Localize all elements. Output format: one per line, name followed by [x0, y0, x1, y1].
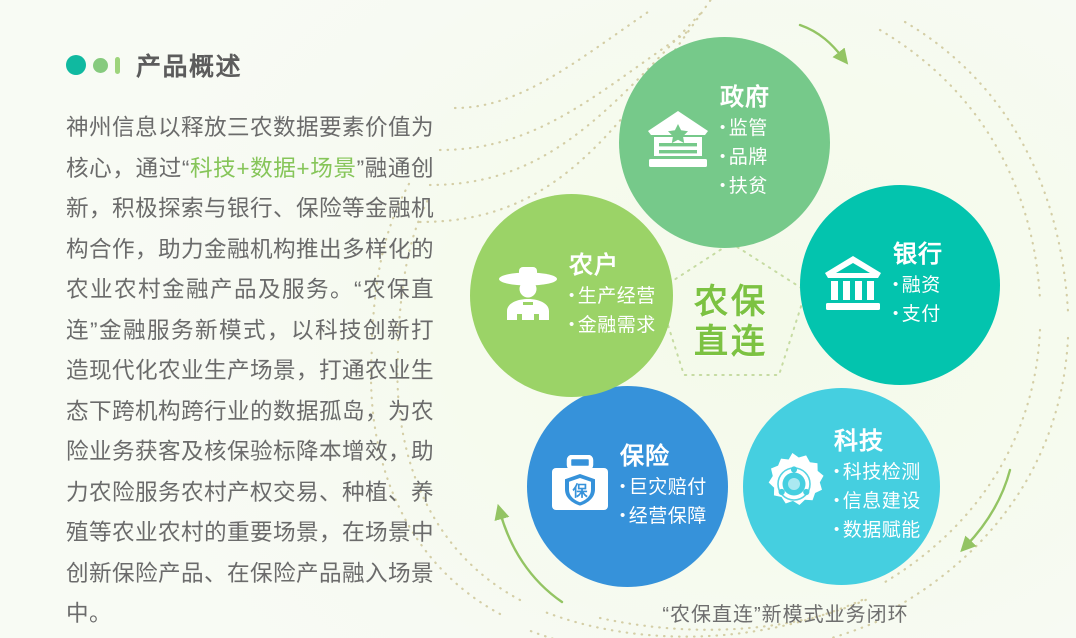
node-technology-item-2: •数据赋能 [834, 517, 921, 546]
node-technology-text: 科技 •科技检测 •信息建设 •数据赋能 [834, 427, 921, 546]
overview-section: 产品概述 神州信息以释放三农数据要素价值为核心，通过“科技+数据+场景”融通创新… [66, 48, 434, 635]
page-title: 产品概述 [136, 47, 242, 83]
node-government-text: 政府 •监管 •品牌 •扶贫 [720, 83, 770, 202]
decor-bar-green-icon [115, 57, 120, 74]
arrow-top [800, 25, 843, 58]
center-badge: 农保 直连 [655, 252, 807, 392]
node-government-name: 政府 [720, 83, 770, 113]
svg-text:保: 保 [571, 482, 588, 500]
node-bank[interactable]: 银行 •融资 •支付 [800, 185, 1000, 385]
node-government-item-1: •品牌 [720, 144, 770, 173]
decor-circle-teal-icon [66, 55, 86, 75]
node-insurance-item-0: •巨灾赔付 [620, 474, 707, 503]
node-bank-name: 银行 [893, 240, 943, 270]
node-farmer-text: 农户 •生产经营 •金融需求 [569, 251, 656, 341]
node-bank-item-1: •支付 [893, 301, 943, 330]
node-farmer-item-0: •生产经营 [569, 283, 656, 312]
node-bank-item-0: •融资 [893, 272, 943, 301]
infographic-page: 产品概述 神州信息以释放三农数据要素价值为核心，通过“科技+数据+场景”融通创新… [0, 0, 1076, 638]
government-building-icon [645, 109, 711, 176]
node-technology-name: 科技 [834, 427, 921, 457]
diagram-caption-text: “农保直连”新模式业务闭环 [167, 604, 908, 626]
node-government[interactable]: 政府 •监管 •品牌 •扶贫 [619, 37, 830, 248]
node-technology[interactable]: 科技 •科技检测 •信息建设 •数据赋能 [743, 388, 940, 585]
section-header: 产品概述 [66, 48, 434, 82]
node-farmer-item-1: •金融需求 [569, 312, 656, 341]
node-government-item-0: •监管 [720, 115, 770, 144]
overview-paragraph: 神州信息以释放三农数据要素价值为核心，通过“科技+数据+场景”融通创新，积极探索… [66, 108, 434, 635]
gear-icon [763, 453, 825, 520]
overview-highlight: 科技+数据+场景 [190, 156, 357, 181]
farmer-hat-icon [496, 264, 560, 327]
node-insurance-item-1: •经营保障 [620, 503, 707, 532]
center-badge-line2: 直连 [694, 322, 768, 362]
diagram-caption: “农保直连”新模式业务闭环 [0, 598, 1076, 627]
bank-columns-icon [822, 254, 884, 317]
node-farmer[interactable]: 农户 •生产经营 •金融需求 [470, 194, 673, 397]
node-insurance[interactable]: 保 保险 •巨灾赔付 •经营保障 [527, 386, 728, 587]
node-insurance-name: 保险 [620, 442, 707, 472]
node-technology-item-1: •信息建设 [834, 488, 921, 517]
overview-text-part2: ”融通创新，积极探索与银行、保险等金融机构合作，助力金融机构推出多样化的农业农村… [66, 156, 434, 627]
node-bank-text: 银行 •融资 •支付 [893, 240, 943, 330]
insurance-briefcase-shield-icon: 保 [549, 455, 611, 518]
node-technology-item-0: •科技检测 [834, 459, 921, 488]
node-government-item-2: •扶贫 [720, 173, 770, 202]
center-badge-line1: 农保 [694, 282, 768, 322]
node-insurance-text: 保险 •巨灾赔付 •经营保障 [620, 442, 707, 532]
node-farmer-name: 农户 [569, 251, 656, 281]
decor-circle-green-icon [93, 58, 108, 73]
arrow-right [966, 470, 1010, 546]
